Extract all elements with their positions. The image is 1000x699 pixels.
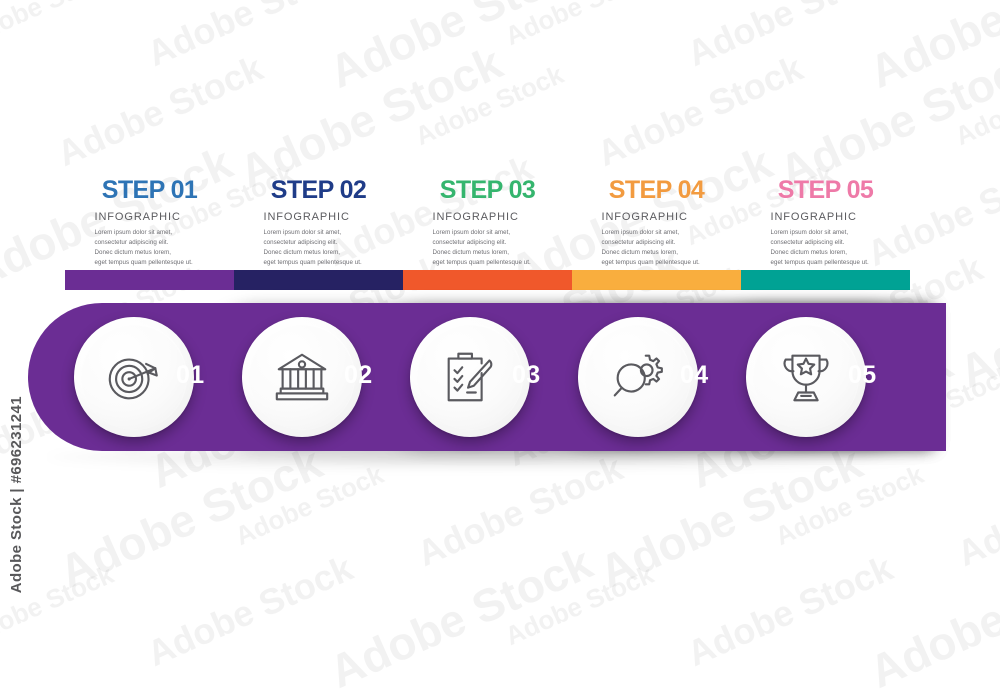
step-body-line-1: Lorem ipsum dolor sit amet,: [95, 228, 205, 238]
step-subtitle-1: INFOGRAPHIC: [95, 212, 205, 223]
step-body-line-2: consectetur adipiscing elit.: [433, 238, 543, 248]
step-body-line-4: eget tempus quam pellentesque ut.: [602, 258, 712, 268]
watermark-tile: Adobe Stock: [231, 35, 510, 199]
step-body-line-2: consectetur adipiscing elit.: [95, 238, 205, 248]
trophy-star-icon: [775, 346, 837, 408]
step-number-3: 03: [512, 363, 541, 388]
step-heading-4: STEP 04 INFOGRAPHIC Lorem ipsum dolor si…: [572, 178, 741, 260]
step-body-2: Lorem ipsum dolor sit amet, consectetur …: [264, 228, 374, 268]
step-number-4: 04: [680, 363, 709, 388]
watermark-tile: Adobe Stock: [141, 0, 359, 75]
step-body-line-3: Donec dictum metus lorem,: [264, 248, 374, 258]
step-title-3: STEP 03: [440, 178, 535, 203]
watermark-tile: Adobe Stock: [951, 59, 1000, 152]
step-heading-1: STEP 01 INFOGRAPHIC Lorem ipsum dolor si…: [65, 178, 234, 260]
bank-building-icon: [271, 346, 333, 408]
step-body-line-1: Lorem ipsum dolor sit amet,: [771, 228, 881, 238]
color-bar-segment-2: [234, 270, 403, 290]
watermark-tile: Adobe Stock: [771, 35, 1000, 199]
watermark-tile: Adobe Stock: [681, 547, 899, 675]
watermark-tile: Adobe Stock: [141, 547, 359, 675]
watermark-tile: Adobe Stock: [0, 0, 118, 52]
color-bar-segment-1: [65, 270, 234, 290]
watermark-tile: Adobe Stock: [411, 59, 569, 152]
step-body-line-3: Donec dictum metus lorem,: [771, 248, 881, 258]
step-title-2: STEP 02: [271, 178, 366, 203]
color-bar-segment-4: [572, 270, 741, 290]
step-body-line-1: Lorem ipsum dolor sit amet,: [264, 228, 374, 238]
stock-watermark-vertical: Adobe Stock | #696231241: [8, 396, 25, 593]
watermark-tile: Adobe Stock: [861, 535, 1000, 699]
watermark-tile: Adobe Stock: [51, 47, 269, 175]
step-body-3: Lorem ipsum dolor sit amet, consectetur …: [433, 228, 543, 268]
step-heading-5: STEP 05 INFOGRAPHIC Lorem ipsum dolor si…: [741, 178, 910, 260]
color-bar-segment-5: [741, 270, 910, 290]
step-body-line-1: Lorem ipsum dolor sit amet,: [602, 228, 712, 238]
watermark-tile: Adobe Stock: [231, 459, 389, 552]
target-arrow-icon: [103, 346, 165, 408]
watermark-tile: Adobe Stock: [861, 0, 1000, 99]
watermark-tile: Adobe Stock: [771, 459, 929, 552]
step-title-1: STEP 01: [102, 178, 197, 203]
step-headings-row: STEP 01 INFOGRAPHIC Lorem ipsum dolor si…: [65, 178, 910, 260]
watermark-tile: Adobe Stock: [681, 0, 899, 75]
step-number-5: 05: [848, 363, 877, 388]
step-subtitle-5: INFOGRAPHIC: [771, 212, 881, 223]
timeline-capsule: 01 02 03 04 05: [28, 303, 946, 451]
watermark-tile: Adobe Stock: [501, 0, 659, 52]
step-body-line-4: eget tempus quam pellentesque ut.: [264, 258, 374, 268]
step-number-2: 02: [344, 363, 373, 388]
step-subtitle-3: INFOGRAPHIC: [433, 212, 543, 223]
step-title-5: STEP 05: [778, 178, 873, 203]
watermark-tile: Adobe Stock: [591, 47, 809, 175]
watermark-tile: Adobe Stock: [501, 559, 659, 652]
color-bar-segment-3: [403, 270, 572, 290]
step-body-line-4: eget tempus quam pellentesque ut.: [95, 258, 205, 268]
watermark-tile: Adobe Stock: [951, 447, 1000, 575]
step-body-line-3: Donec dictum metus lorem,: [433, 248, 543, 258]
step-heading-3: STEP 03 INFOGRAPHIC Lorem ipsum dolor si…: [403, 178, 572, 260]
clipboard-checklist-pen-icon: [439, 346, 501, 408]
magnifier-gear-icon: [607, 346, 669, 408]
step-body-line-2: consectetur adipiscing elit.: [602, 238, 712, 248]
step-body-5: Lorem ipsum dolor sit amet, consectetur …: [771, 228, 881, 268]
step-color-bar: [65, 270, 910, 290]
step-number-1: 01: [176, 363, 205, 388]
watermark-tile: Adobe Stock: [951, 235, 1000, 399]
step-subtitle-4: INFOGRAPHIC: [602, 212, 712, 223]
watermark-tile: Adobe Stock: [321, 0, 600, 99]
step-body-4: Lorem ipsum dolor sit amet, consectetur …: [602, 228, 712, 268]
step-body-line-2: consectetur adipiscing elit.: [771, 238, 881, 248]
step-body-line-3: Donec dictum metus lorem,: [602, 248, 712, 258]
step-body-line-3: Donec dictum metus lorem,: [95, 248, 205, 258]
step-subtitle-2: INFOGRAPHIC: [264, 212, 374, 223]
step-body-1: Lorem ipsum dolor sit amet, consectetur …: [95, 228, 205, 268]
watermark-tile: Adobe Stock: [321, 535, 600, 699]
step-body-line-2: consectetur adipiscing elit.: [264, 238, 374, 248]
step-heading-2: STEP 02 INFOGRAPHIC Lorem ipsum dolor si…: [234, 178, 403, 260]
step-title-4: STEP 04: [609, 178, 704, 203]
step-body-line-4: eget tempus quam pellentesque ut.: [433, 258, 543, 268]
step-body-line-1: Lorem ipsum dolor sit amet,: [433, 228, 543, 238]
step-body-line-4: eget tempus quam pellentesque ut.: [771, 258, 881, 268]
